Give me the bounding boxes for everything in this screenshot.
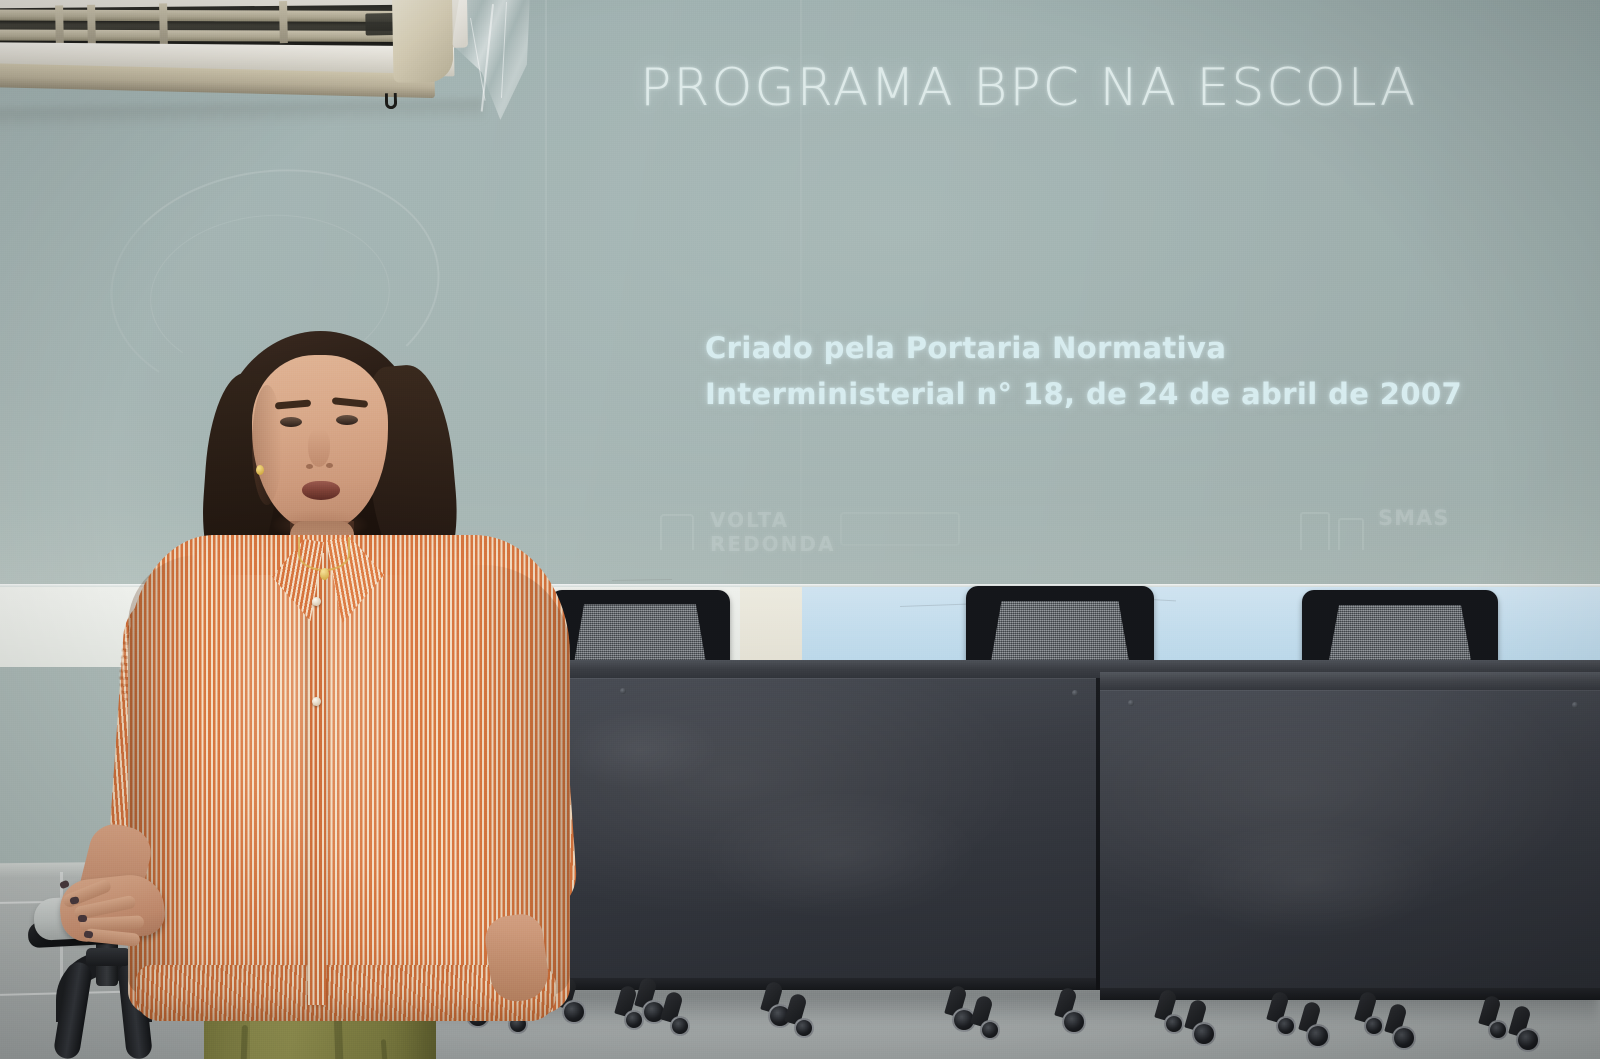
slide-subtitle-line-2: Interministerial n° 18, de 24 de abril d… bbox=[705, 371, 1462, 417]
caster-wheel bbox=[1488, 1020, 1508, 1040]
slide-subtitle: Criado pela Portaria Normativa Intermini… bbox=[705, 325, 1462, 417]
table-joint-seam bbox=[1096, 678, 1100, 990]
table-screw bbox=[1128, 700, 1134, 706]
conference-table-right-top bbox=[1100, 672, 1600, 692]
caster-wheel bbox=[562, 1000, 586, 1024]
table-caster bbox=[786, 994, 820, 1040]
wall-panel-cream bbox=[740, 587, 802, 667]
air-conditioner-drain-hook bbox=[385, 93, 397, 109]
smas-building-icon-1 bbox=[1300, 512, 1330, 550]
shirt-button bbox=[312, 597, 321, 606]
table-surface-smudge bbox=[560, 710, 720, 790]
photo-scene: PROGRAMA BPC NA ESCOLA Criado pela Porta… bbox=[0, 0, 1600, 1059]
caster-wheel bbox=[794, 1018, 814, 1038]
caster-wheel bbox=[1392, 1026, 1416, 1050]
table-caster bbox=[1300, 1002, 1334, 1048]
shirt-placket bbox=[308, 553, 326, 1005]
conference-table-left-bottom-edge bbox=[505, 978, 1100, 990]
table-caster bbox=[1480, 996, 1514, 1042]
caster-wheel bbox=[980, 1020, 1000, 1040]
fingernail bbox=[84, 930, 94, 938]
air-conditioner-vent-divider bbox=[55, 5, 64, 47]
eye-right bbox=[336, 415, 358, 425]
table-screw bbox=[620, 688, 626, 694]
table-surface-smudge bbox=[1180, 820, 1440, 940]
table-caster bbox=[1386, 1004, 1420, 1050]
gold-necklace bbox=[298, 537, 350, 571]
air-conditioner-side-cap bbox=[392, 0, 454, 82]
air-conditioner-vent-divider bbox=[159, 3, 168, 45]
table-caster bbox=[662, 992, 696, 1038]
necklace-pendant bbox=[320, 568, 329, 580]
table-caster bbox=[1186, 1000, 1220, 1046]
split-air-conditioner bbox=[0, 0, 489, 115]
air-conditioner-vent-divider bbox=[279, 1, 288, 43]
nose bbox=[308, 429, 330, 467]
mouth bbox=[302, 481, 340, 500]
table-caster bbox=[972, 996, 1006, 1042]
table-screw bbox=[1572, 702, 1578, 708]
office-chair-3 bbox=[966, 586, 1154, 668]
eye-left bbox=[280, 417, 302, 427]
caster-wheel bbox=[1364, 1016, 1384, 1036]
table-surface-smudge bbox=[700, 790, 980, 920]
caster-wheel bbox=[1062, 1010, 1086, 1034]
chair-mesh-panel bbox=[573, 604, 706, 666]
projection-seam-left bbox=[545, 0, 547, 589]
table-screw bbox=[1072, 690, 1078, 696]
presenter bbox=[40, 325, 540, 1059]
caster-wheel bbox=[1164, 1014, 1184, 1034]
air-conditioner-vent-divider bbox=[87, 5, 96, 47]
volta-redonda-logo-line-1: VOLTA bbox=[710, 508, 835, 532]
smas-logo: SMAS bbox=[1378, 506, 1449, 530]
caster-wheel bbox=[670, 1016, 690, 1036]
table-caster bbox=[1156, 990, 1190, 1036]
nostril-left bbox=[306, 464, 313, 469]
fingernail bbox=[78, 915, 87, 922]
table-caster bbox=[1268, 992, 1302, 1038]
caster-wheel bbox=[1192, 1022, 1216, 1046]
caster-wheel bbox=[1306, 1024, 1330, 1048]
table-caster bbox=[1510, 1006, 1544, 1052]
nostril-right bbox=[326, 463, 333, 468]
caster-wheel bbox=[1516, 1028, 1540, 1052]
volta-redonda-logo: VOLTA REDONDA bbox=[710, 508, 835, 556]
smas-building-icon-2 bbox=[1338, 518, 1364, 550]
volta-redonda-logo-line-2: REDONDA bbox=[710, 532, 835, 556]
gold-earring bbox=[256, 465, 264, 475]
table-caster bbox=[1056, 988, 1090, 1034]
slide-title: PROGRAMA BPC NA ESCOLA bbox=[640, 58, 1417, 118]
shirt-button bbox=[312, 697, 321, 706]
volta-redonda-crest-icon bbox=[660, 514, 694, 550]
slide-subtitle-line-1: Criado pela Portaria Normativa bbox=[705, 325, 1462, 371]
slide-footer-wordmark-icon bbox=[840, 512, 960, 546]
caster-wheel bbox=[1276, 1016, 1296, 1036]
chair-mesh-panel bbox=[990, 601, 1129, 665]
office-chair-2 bbox=[550, 590, 730, 670]
